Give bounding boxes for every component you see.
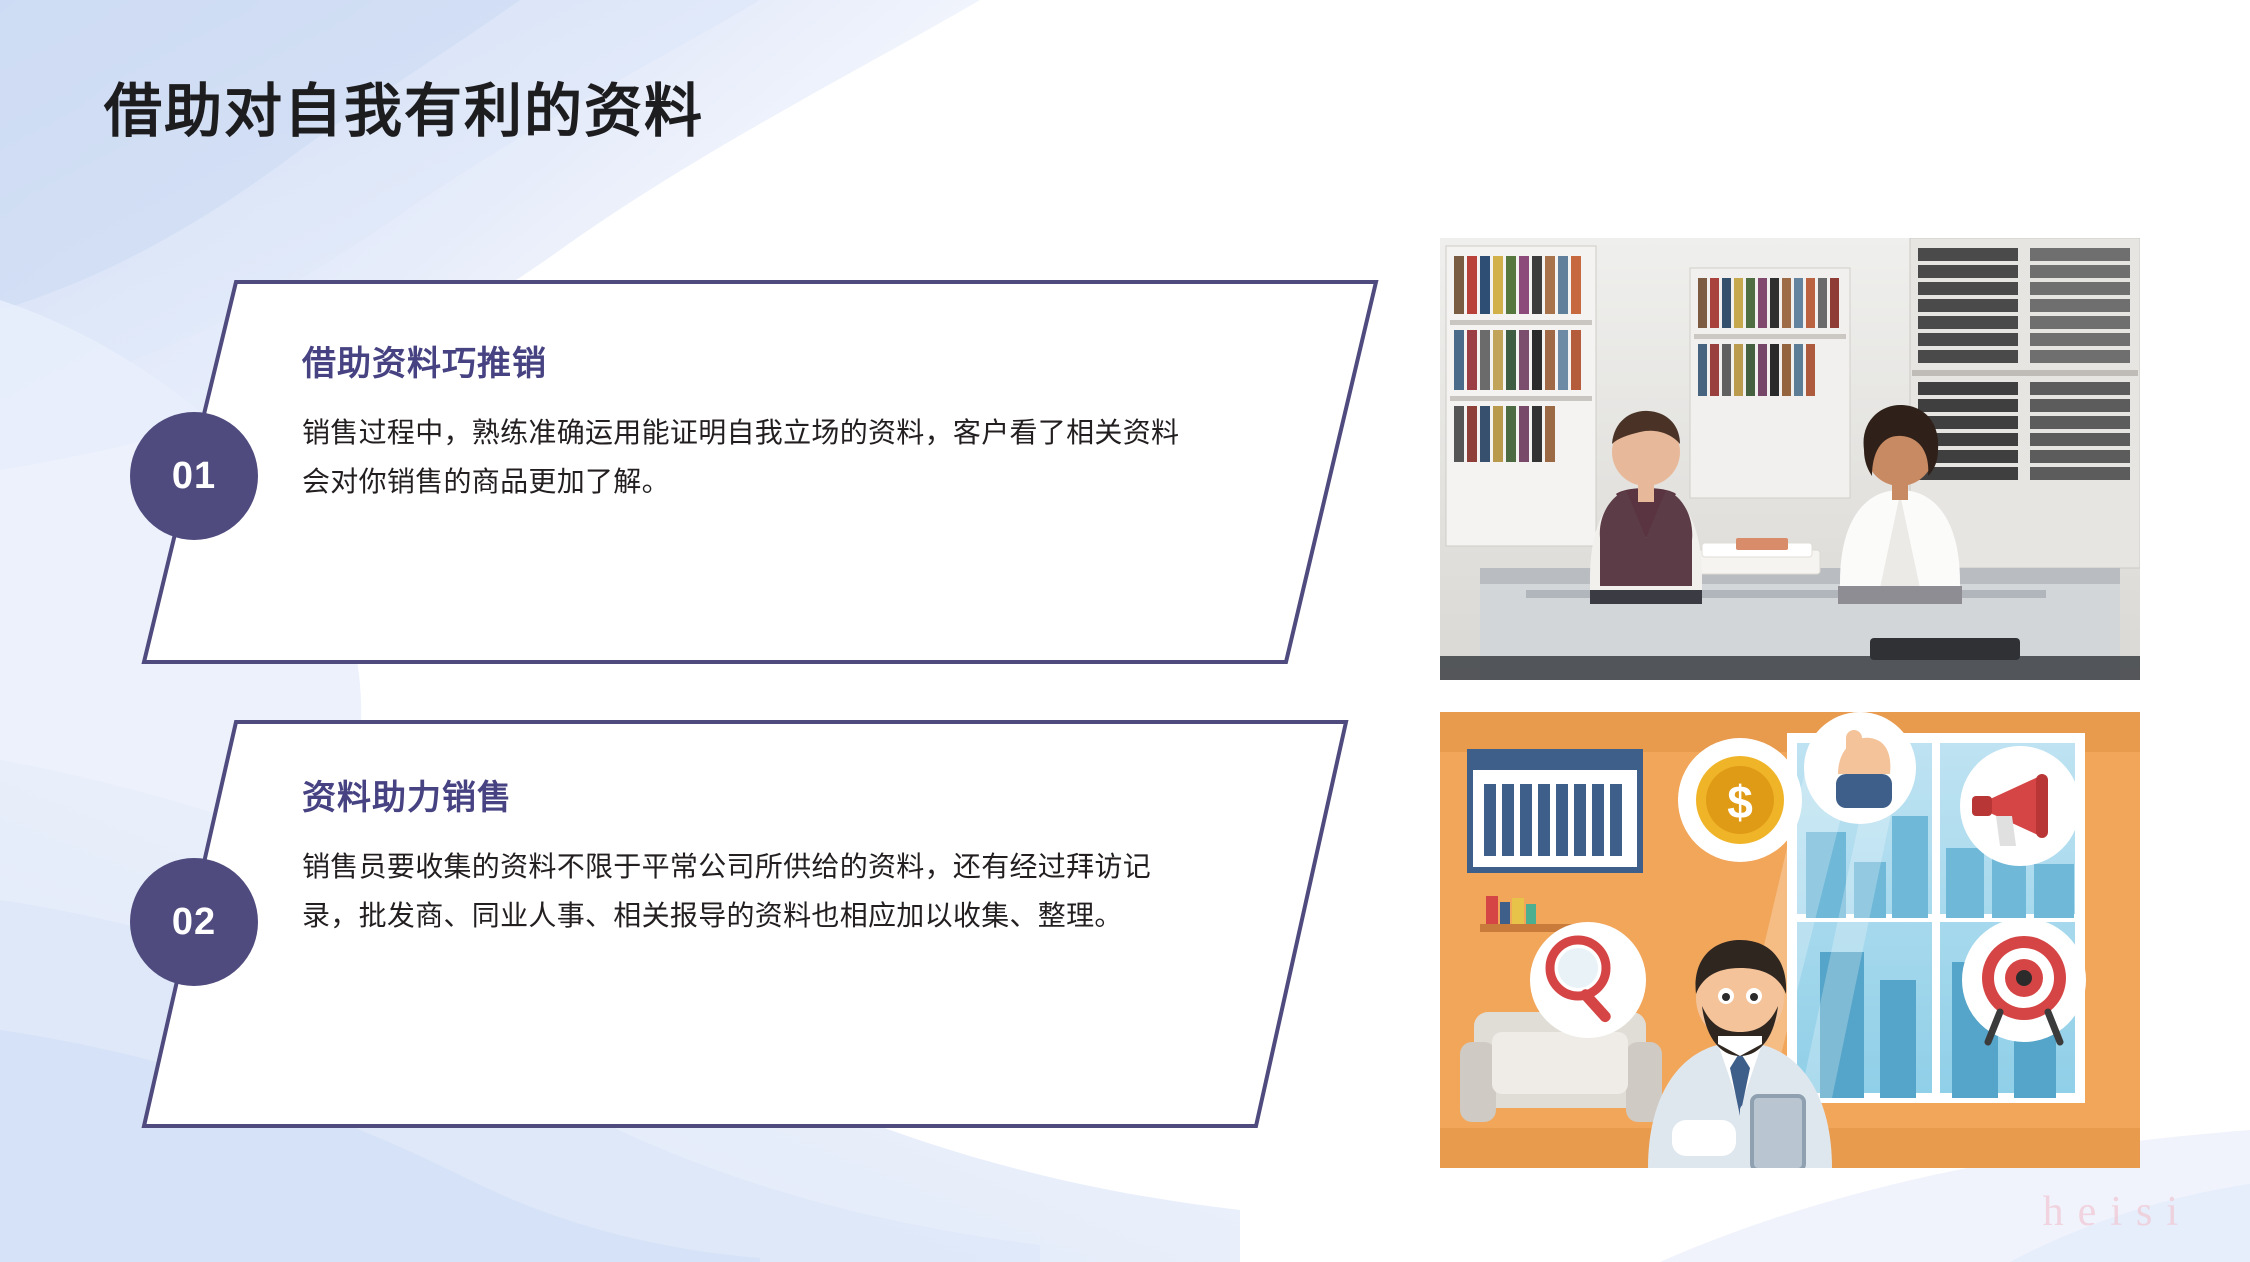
svg-text:$: $ (1727, 776, 1753, 828)
card-body-text: 销售过程中，熟练准确运用能证明自我立场的资料，客户看了相关资料会对你销售的商品更… (302, 408, 1182, 506)
card-heading: 借助资料巧推销 (302, 336, 547, 385)
photo-salespeople-showroom (1440, 238, 2140, 680)
illustration-salesman-office: $ (1440, 712, 2140, 1168)
content-card-02: 资料助力销售 销售员要收集的资料不限于平常公司所供给的资料，还有经过拜访记录，批… (140, 718, 1350, 1130)
watermark: heisi (2043, 1188, 2192, 1236)
card-heading: 资料助力销售 (302, 770, 512, 819)
slide-root: 借助对自我有利的资料 借助资料巧推销 销售过程中，熟练准确运用能证明自我立场的资… (0, 0, 2250, 1262)
card-body-text: 销售员要收集的资料不限于平常公司所供给的资料，还有经过拜访记录，批发商、同业人事… (302, 842, 1182, 940)
step-number-badge-01: 01 (130, 412, 258, 540)
page-title: 借助对自我有利的资料 (104, 78, 704, 146)
step-number-badge-02: 02 (130, 858, 258, 986)
content-card-01: 借助资料巧推销 销售过程中，熟练准确运用能证明自我立场的资料，客户看了相关资料会… (140, 278, 1380, 666)
